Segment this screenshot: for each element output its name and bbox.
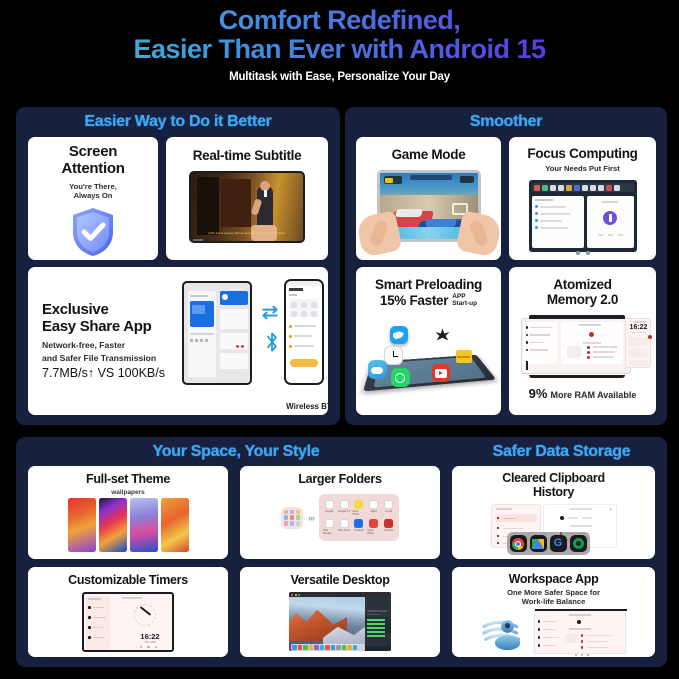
- larger-folders-visual: ››› Google Google TV Drop Photo Maps Gma…: [281, 494, 399, 541]
- game-mode-visual: [359, 168, 499, 254]
- chrome-icon: [510, 535, 527, 552]
- card-sub-focus-computing: Your Needs Put First: [545, 164, 620, 173]
- card-game-mode[interactable]: Game Mode: [356, 137, 501, 260]
- folder-app-label: Google: [325, 510, 333, 513]
- wallpaper-strip: [68, 498, 189, 552]
- atomized-clock: 16:22: [628, 324, 650, 331]
- card-full-set-theme[interactable]: Full-set Theme wallpapers: [28, 466, 228, 559]
- card-title-atomized-1: Atomized: [553, 277, 611, 292]
- card-atomized-memory[interactable]: Atomized Memory 2.0: [509, 267, 656, 415]
- card-title-focus-computing: Focus Computing: [527, 146, 637, 161]
- card-sub-easy-share-1: Network-free, Faster: [42, 340, 176, 350]
- card-exclusive-easy-share[interactable]: Exclusive Easy Share App Network-free, F…: [28, 267, 328, 415]
- section-heading-easier-way: Easier Way to Do it Better: [16, 107, 340, 131]
- folder-app-label: Podcast: [354, 529, 363, 532]
- section-heading-your-space: Your Space, Your Style: [16, 437, 456, 461]
- card-larger-folders[interactable]: Larger Folders ››› Google Google TV Drop…: [240, 466, 440, 559]
- card-title-screen-attention: Screen Attention: [61, 144, 124, 178]
- small-folder-icon: [281, 507, 303, 529]
- workspace-screen-mock: [534, 610, 626, 654]
- folder-app-label: Google TV: [338, 510, 350, 513]
- desktop-mock: [289, 592, 391, 651]
- card-sub-workspace-2: Work-life Balance: [522, 597, 586, 606]
- poster-subtitle: Multitask with Ease, Personalize Your Da…: [0, 71, 679, 83]
- section-easier-way: Easier Way to Do it Better Screen Attent…: [16, 107, 340, 425]
- bluetooth-icon: [264, 331, 280, 353]
- card-customizable-timers[interactable]: Customizable Timers 16:22: [28, 567, 228, 657]
- card-title-versatile-desktop: Versatile Desktop: [290, 573, 389, 587]
- expanded-folder-grid: Google Google TV Drop Photo Maps Gmail P…: [319, 494, 399, 541]
- card-sub-workspace-1: One More Safer Space for: [507, 588, 600, 597]
- card-title-easy-share-2: Easy Share App: [42, 319, 176, 336]
- card-title-real-time-subtitle: Real-time Subtitle: [193, 148, 302, 163]
- folder-app-label: Drop Photo: [353, 510, 366, 516]
- card-title-easy-share-1: Exclusive: [42, 302, 176, 319]
- card-screen-attention[interactable]: Screen Attention You're There, Always On: [28, 137, 158, 260]
- card-smart-preloading[interactable]: Smart Preloading 15% Faster APP Start-up: [356, 267, 501, 415]
- shield-check-icon: [70, 206, 116, 258]
- card-workspace-app[interactable]: Workspace App One More Safer Space for W…: [452, 567, 655, 657]
- section-bottom: Your Space, Your Style Safer Data Storag…: [16, 437, 667, 667]
- workspace-visual: [482, 610, 626, 654]
- atomized-stat-text: More RAM Available: [550, 390, 636, 400]
- section-smoother: Smoother Game Mode: [345, 107, 667, 425]
- clipboard-visual: G: [491, 504, 617, 550]
- atomized-stat-number: 9%: [529, 386, 548, 401]
- title-line-2: Easier Than Ever with Android 15: [0, 35, 679, 64]
- folder-app-label: Gmail: [385, 510, 392, 513]
- card-title-workspace-app: Workspace App: [509, 572, 599, 586]
- clipboard-app-dock: G: [507, 532, 590, 555]
- atomized-stat: 9% More RAM Available: [529, 386, 637, 401]
- timers-tablet-mock: 16:22 Thu 24/8: [82, 592, 174, 652]
- subtitle-caption-text: A film scene playing with live generated…: [208, 232, 286, 235]
- two-way-arrows-icon: [260, 303, 280, 323]
- easy-share-text-block: Exclusive Easy Share App Network-free, F…: [28, 267, 176, 415]
- drive-icon: [530, 535, 547, 552]
- card-title-game-mode: Game Mode: [392, 147, 466, 162]
- card-title-atomized-2: Memory 2.0: [547, 292, 618, 307]
- messages-icon: [570, 535, 587, 552]
- card-title-smart-preloading-1: Smart Preloading: [375, 277, 482, 292]
- card-versatile-desktop[interactable]: Versatile Desktop: [240, 567, 440, 657]
- folder-app-label: Play Store: [338, 529, 350, 532]
- card-real-time-subtitle[interactable]: Real-time Subtitle A film scene playing …: [166, 137, 328, 260]
- card-title-full-set-theme: Full-set Theme: [86, 472, 170, 486]
- twitter-icon: [390, 326, 408, 344]
- whatsapp-icon: [391, 368, 410, 387]
- google-icon: G: [550, 535, 567, 552]
- weather-icon: [368, 360, 387, 379]
- folder-app-label: YouTube: [383, 529, 393, 532]
- section-heading-smoother: Smoother: [345, 107, 667, 131]
- smart-preloading-visual: [360, 310, 498, 404]
- easy-share-tablet-mock: [182, 281, 252, 385]
- smart-preloading-badge-2: Start-up: [452, 301, 477, 308]
- poster-header: Comfort Redefined, Easier Than Ever with…: [0, 0, 679, 83]
- easy-share-footnote: Wireless BT: [274, 402, 328, 411]
- card-sub-easy-share-2: and Safer File Transmission: [42, 353, 176, 363]
- folder-app-label: News Office: [367, 529, 380, 535]
- section-heading-safer-data: Safer Data Storage: [456, 437, 667, 461]
- folder-app-label: Maps: [371, 510, 377, 513]
- card-focus-computing[interactable]: Focus Computing Your Needs Put First: [509, 137, 656, 260]
- easy-share-stat: 7.7MB/s↑ VS 100KB/s: [42, 366, 176, 380]
- easy-share-phone-mock: [284, 279, 324, 385]
- card-sub-screen-attention-1: You're There,: [69, 182, 117, 191]
- subtitle-video-mock: A film scene playing with live generated…: [189, 171, 305, 243]
- focus-computing-desktop-mock: [529, 180, 637, 252]
- expand-chevrons-icon: ›››: [308, 513, 314, 523]
- card-sub-screen-attention-2: Always On: [74, 191, 113, 200]
- atomized-memory-visual: 16:22: [513, 314, 653, 380]
- workspace-person-icon: [482, 612, 524, 652]
- wallpapers-label: wallpapers: [111, 489, 145, 496]
- asterisk-icon: [436, 328, 450, 342]
- card-title-larger-folders: Larger Folders: [298, 472, 381, 486]
- card-title-clipboard-2: History: [533, 485, 574, 499]
- easy-share-visual: Wireless BT: [176, 267, 328, 415]
- youtube-icon: [432, 364, 450, 382]
- card-title-clipboard-1: Cleared Clipboard: [502, 471, 605, 485]
- card-cleared-clipboard[interactable]: Cleared Clipboard History: [452, 466, 655, 559]
- title-line-1: Comfort Redefined,: [0, 6, 679, 35]
- card-title-customizable-timers: Customizable Timers: [68, 573, 188, 587]
- card-title-smart-preloading-2: 15% Faster: [380, 293, 448, 308]
- poster-root: Comfort Redefined, Easier Than Ever with…: [0, 0, 679, 679]
- folder-app-label: Play Movies: [323, 529, 336, 535]
